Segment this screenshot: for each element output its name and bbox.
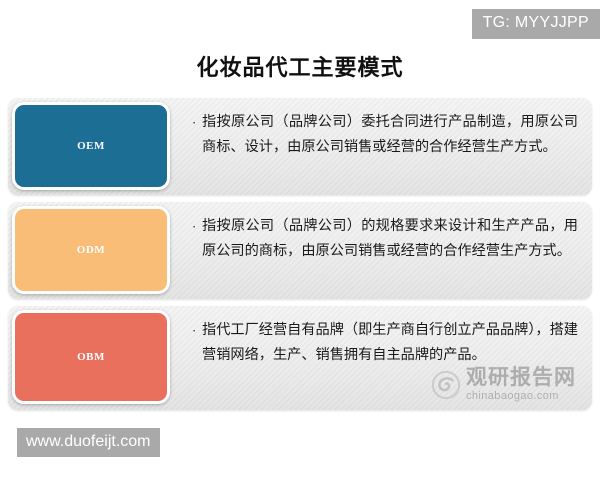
- list-item: ODM · 指按原公司（品牌公司）的规格要求来设计和生产产品，用原公司的商标，由…: [0, 202, 600, 299]
- mode-chip-odm[interactable]: ODM: [12, 206, 170, 294]
- mode-chip-label: ODM: [77, 244, 105, 256]
- tg-watermark: TG: MYYJJPP: [472, 9, 600, 39]
- mode-chip-oem[interactable]: OEM: [12, 102, 170, 190]
- mode-description-text: 指代工厂经营自有品牌（即生产商自行创立产品品牌），搭建营销网络，生产、销售拥有自…: [202, 318, 578, 368]
- bullet-icon: ·: [192, 318, 202, 343]
- mode-chip-label: OBM: [77, 351, 105, 363]
- mode-description-odm: · 指按原公司（品牌公司）的规格要求来设计和生产产品，用原公司的商标，由原公司销…: [192, 214, 578, 264]
- mode-description-text: 指按原公司（品牌公司）委托合同进行产品制造，用原公司商标、设计，由原公司销售或经…: [202, 110, 578, 160]
- mode-chip-obm[interactable]: OBM: [12, 310, 170, 404]
- mode-description-obm: · 指代工厂经营自有品牌（即生产商自行创立产品品牌），搭建营销网络，生产、销售拥…: [192, 318, 578, 368]
- mode-description-oem: · 指按原公司（品牌公司）委托合同进行产品制造，用原公司商标、设计，由原公司销售…: [192, 110, 578, 160]
- page-title: 化妆品代工主要模式: [0, 50, 600, 82]
- bullet-icon: ·: [192, 214, 202, 239]
- list-item: OBM · 指代工厂经营自有品牌（即生产商自行创立产品品牌），搭建营销网络，生产…: [0, 306, 600, 410]
- site-watermark: www.duofeijt.com: [17, 428, 160, 457]
- mode-chip-label: OEM: [77, 140, 105, 152]
- mode-list: OEM · 指按原公司（品牌公司）委托合同进行产品制造，用原公司商标、设计，由原…: [0, 98, 600, 410]
- bullet-icon: ·: [192, 110, 202, 135]
- mode-description-text: 指按原公司（品牌公司）的规格要求来设计和生产产品，用原公司的商标，由原公司销售或…: [202, 214, 578, 264]
- list-item: OEM · 指按原公司（品牌公司）委托合同进行产品制造，用原公司商标、设计，由原…: [0, 98, 600, 195]
